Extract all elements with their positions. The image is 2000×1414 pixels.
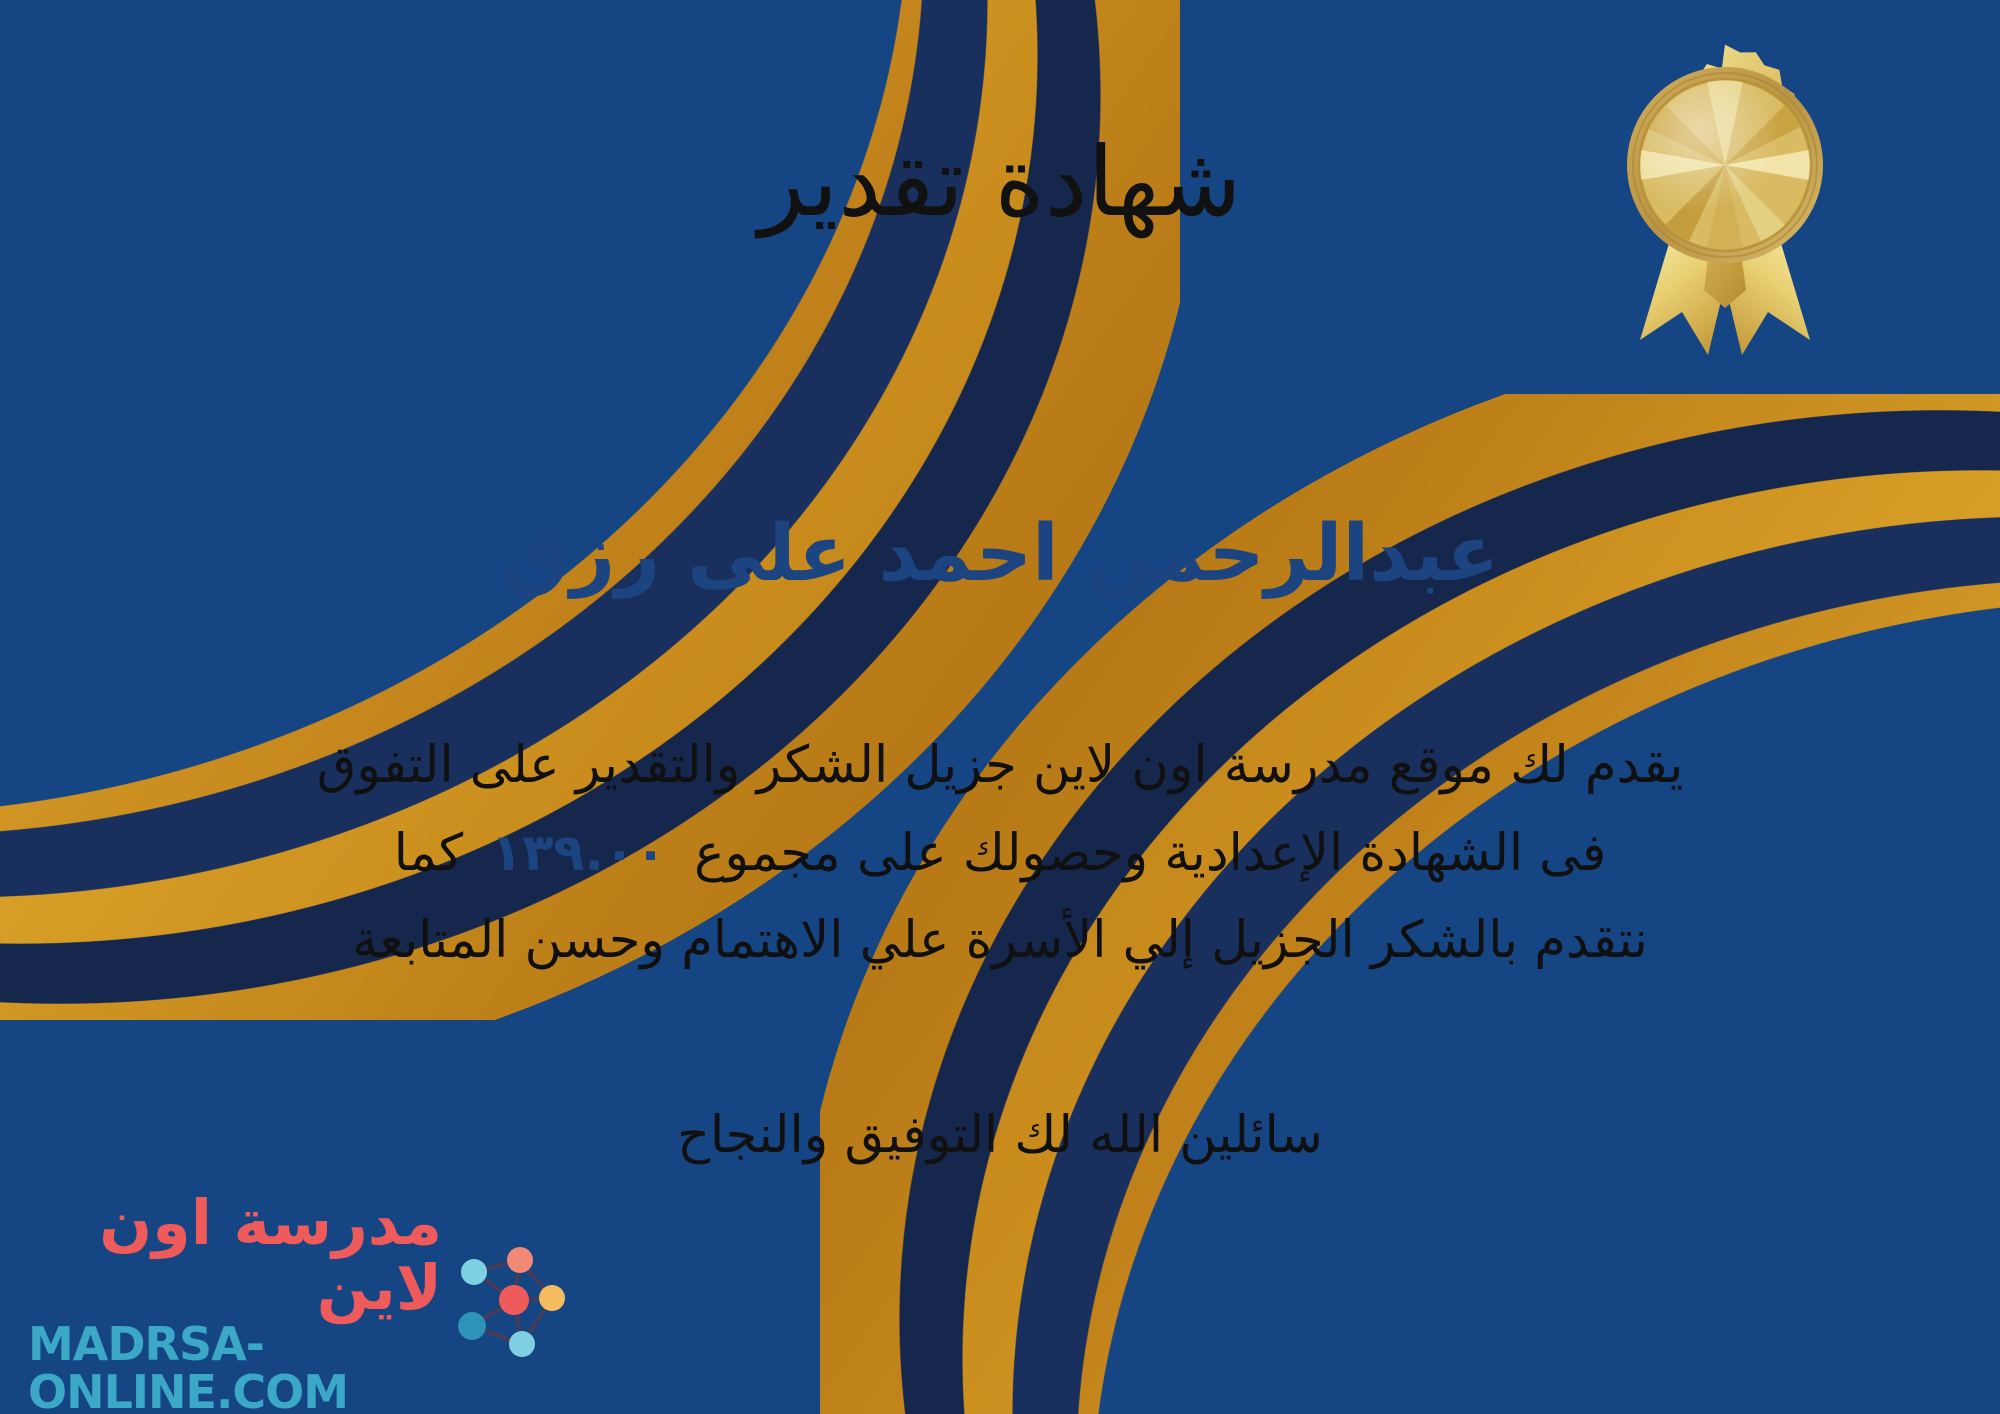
network-nodes-icon <box>448 1238 568 1368</box>
logo-arabic-name: مدرسة اون لاين <box>28 1190 442 1320</box>
certificate-body: يقدم لك موقع مدرسة اون لاين جزيل الشكر و… <box>40 722 1960 985</box>
recipient-name: عبدالرحمن احمد على رزق <box>0 508 2000 602</box>
page-title: شهادة تقدير <box>0 130 2000 236</box>
closing-wish: سائلين الله لك التوفيق والنجاح <box>0 1095 2000 1177</box>
body-line-2: فى الشهادة الإعدادية وحصولك على مجموع١٣٩… <box>40 810 1960 898</box>
site-logo[interactable]: مدرسة اون لاين MADRSA-ONLINE.COM <box>28 1228 568 1378</box>
logo-domain: MADRSA-ONLINE.COM <box>28 1320 442 1414</box>
body-line-1: يقدم لك موقع مدرسة اون لاين جزيل الشكر و… <box>40 722 1960 810</box>
grade-total-value: ١٣٩.٠٠ <box>463 824 694 883</box>
body-line-2-suffix: كما <box>394 824 463 883</box>
logo-text-block: مدرسة اون لاين MADRSA-ONLINE.COM <box>28 1190 442 1414</box>
body-line-2-prefix: فى الشهادة الإعدادية وحصولك على مجموع <box>694 824 1606 883</box>
certificate-page: شهادة تقدير عبدالرحمن احمد على رزق يقدم … <box>0 0 2000 1414</box>
body-line-3: نتقدم بالشكر الجزيل إلي الأسرة علي الاهت… <box>40 897 1960 985</box>
